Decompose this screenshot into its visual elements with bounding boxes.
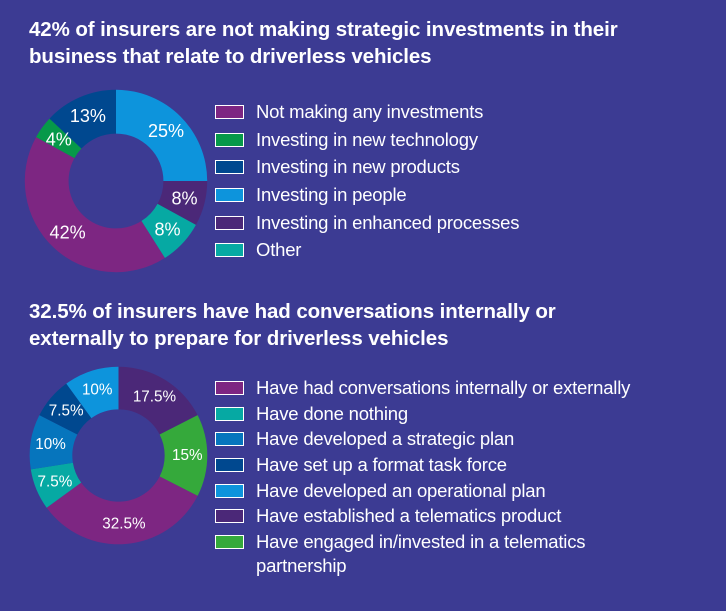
legend-item-label: Investing in new technology bbox=[256, 128, 478, 152]
legend-item[interactable]: Have engaged in/invested in a telematics… bbox=[215, 530, 630, 577]
legend-item-label: Have done nothing bbox=[256, 402, 408, 426]
legend-swatch-icon bbox=[215, 407, 244, 421]
legend-swatch-icon bbox=[215, 133, 244, 147]
legend-item-label: Have developed an operational plan bbox=[256, 479, 545, 503]
legend-swatch-icon bbox=[215, 535, 244, 549]
legend-swatch-icon bbox=[215, 188, 244, 202]
infographic-page: 42% of insurers are not making strategic… bbox=[0, 0, 726, 611]
legend-item[interactable]: Have developed an operational plan bbox=[215, 479, 630, 503]
donut-slices-investments bbox=[25, 90, 207, 272]
legend-item[interactable]: Investing in enhanced processes bbox=[215, 211, 519, 235]
legend-item[interactable]: Investing in new products bbox=[215, 155, 519, 179]
legend-item-label: Investing in new products bbox=[256, 155, 460, 179]
legend-item-label: Have established a telematics product bbox=[256, 504, 561, 528]
legend-swatch-icon bbox=[215, 381, 244, 395]
donut-slice-label: 15% bbox=[172, 447, 203, 464]
legend-swatch-icon bbox=[215, 484, 244, 498]
legend-item-label: Investing in enhanced processes bbox=[256, 211, 519, 235]
donut-slice-label: 17.5% bbox=[133, 388, 177, 405]
legend-item[interactable]: Not making any investments bbox=[215, 100, 519, 124]
donut-slice-label: 42% bbox=[50, 223, 86, 243]
legend-item[interactable]: Investing in new technology bbox=[215, 128, 519, 152]
legend-item-label: Not making any investments bbox=[256, 100, 483, 124]
page-title-investments: 42% of insurers are not making strategic… bbox=[29, 16, 689, 70]
legend-swatch-icon bbox=[215, 509, 244, 523]
legend-swatch-icon bbox=[215, 160, 244, 174]
donut-slice-label: 25% bbox=[148, 121, 184, 141]
donut-slice-label: 7.5% bbox=[38, 473, 73, 490]
legend-item[interactable]: Investing in people bbox=[215, 183, 519, 207]
page-title-conversations: 32.5% of insurers have had conversations… bbox=[29, 298, 689, 352]
legend-conversations: Have had conversations internally or ext… bbox=[215, 376, 630, 579]
legend-item-label: Other bbox=[256, 238, 301, 262]
legend-item-label: Investing in people bbox=[256, 183, 406, 207]
legend-item-label: Have set up a format task force bbox=[256, 453, 507, 477]
legend-swatch-icon bbox=[215, 243, 244, 257]
donut-slice-label: 8% bbox=[155, 219, 181, 239]
legend-item[interactable]: Have done nothing bbox=[215, 402, 630, 426]
donut-chart-conversations-svg: 17.5%15%32.5%7.5%10%7.5%10% bbox=[26, 363, 211, 548]
donut-slice-label: 7.5% bbox=[49, 402, 84, 419]
legend-item[interactable]: Have developed a strategic plan bbox=[215, 427, 630, 451]
legend-item[interactable]: Have established a telematics product bbox=[215, 504, 630, 528]
donut-slice bbox=[25, 137, 165, 272]
legend-item[interactable]: Have had conversations internally or ext… bbox=[215, 376, 630, 400]
legend-swatch-icon bbox=[215, 216, 244, 230]
legend-item[interactable]: Other bbox=[215, 238, 519, 262]
donut-slice-label: 4% bbox=[46, 129, 72, 149]
legend-item-label: Have engaged in/invested in a telematics… bbox=[256, 530, 585, 577]
donut-slice-label: 32.5% bbox=[102, 516, 146, 533]
legend-item[interactable]: Have set up a format task force bbox=[215, 453, 630, 477]
legend-swatch-icon bbox=[215, 105, 244, 119]
legend-swatch-icon bbox=[215, 458, 244, 472]
legend-item-label: Have had conversations internally or ext… bbox=[256, 376, 630, 400]
legend-item-label: Have developed a strategic plan bbox=[256, 427, 514, 451]
donut-chart-investments: 25%8%8%42%4%13% bbox=[21, 86, 211, 276]
donut-slice-label: 13% bbox=[70, 106, 106, 126]
donut-chart-investments-svg: 25%8%8%42%4%13% bbox=[21, 86, 211, 276]
donut-slice-label: 10% bbox=[82, 382, 113, 399]
legend-swatch-icon bbox=[215, 432, 244, 446]
legend-investments: Not making any investmentsInvesting in n… bbox=[215, 100, 519, 266]
donut-slice-label: 10% bbox=[35, 436, 66, 453]
donut-chart-conversations: 17.5%15%32.5%7.5%10%7.5%10% bbox=[26, 363, 211, 548]
donut-slice-label: 8% bbox=[171, 189, 197, 209]
